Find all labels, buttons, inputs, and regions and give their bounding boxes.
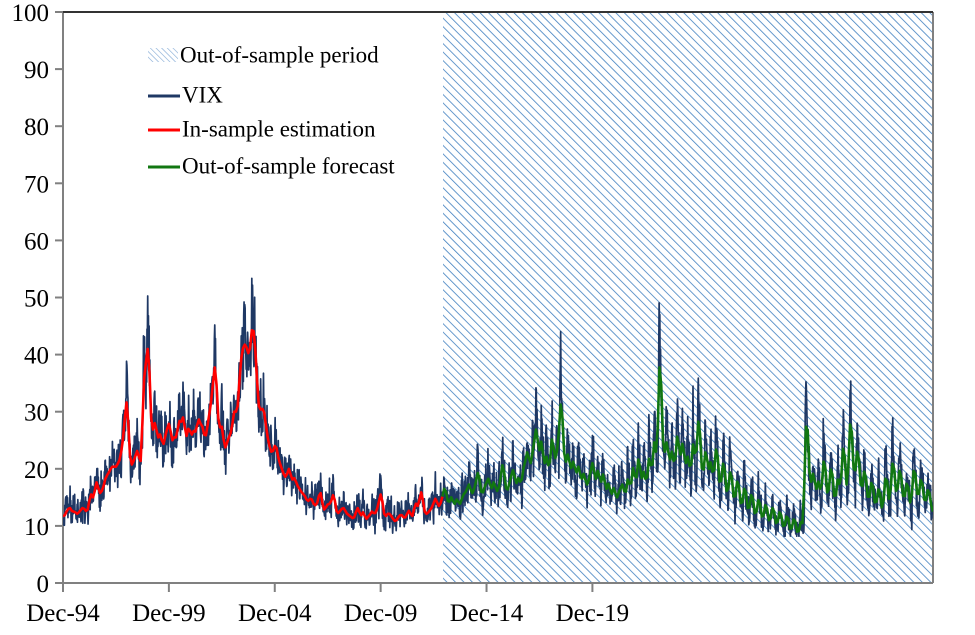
y-axis-tick-label: 20 <box>24 457 49 484</box>
y-axis-tick-label: 40 <box>24 343 49 370</box>
y-axis-tick-label: 60 <box>24 228 49 255</box>
vix-forecast-chart: 0102030405060708090100 Dec-94Dec-99Dec-0… <box>0 0 975 635</box>
y-axis-tick-label: 0 <box>37 571 50 598</box>
legend-label-in-sample-estimation: In-sample estimation <box>182 116 376 141</box>
chart-canvas: 0102030405060708090100 Dec-94Dec-99Dec-0… <box>0 0 975 635</box>
x-axis-tick-label: Dec-09 <box>344 600 418 627</box>
legend-label-out-of-sample-period: Out-of-sample period <box>180 42 379 67</box>
x-axis-tick-label: Dec-04 <box>238 600 312 627</box>
legend-swatch-out-of-sample-period <box>148 48 178 62</box>
legend-label-out-of-sample-forecast: Out-of-sample forecast <box>182 153 395 178</box>
y-axis-tick-label: 50 <box>24 286 49 313</box>
legend-label-vix: VIX <box>182 82 223 107</box>
y-axis-tick-label: 100 <box>12 0 50 27</box>
x-axis-tick-label: Dec-94 <box>26 600 100 627</box>
y-axis-tick-label: 10 <box>24 514 49 541</box>
out-of-sample-region <box>443 12 933 583</box>
x-axis-tick-label: Dec-14 <box>450 600 524 627</box>
x-axis-tick-label: Dec-19 <box>556 600 630 627</box>
y-axis-tick-label: 70 <box>24 171 49 198</box>
y-axis-tick-label: 80 <box>24 114 49 141</box>
y-axis-tick-label: 30 <box>24 400 49 427</box>
x-axis-tick-label: Dec-99 <box>132 600 206 627</box>
y-axis-tick-label: 90 <box>24 57 49 84</box>
